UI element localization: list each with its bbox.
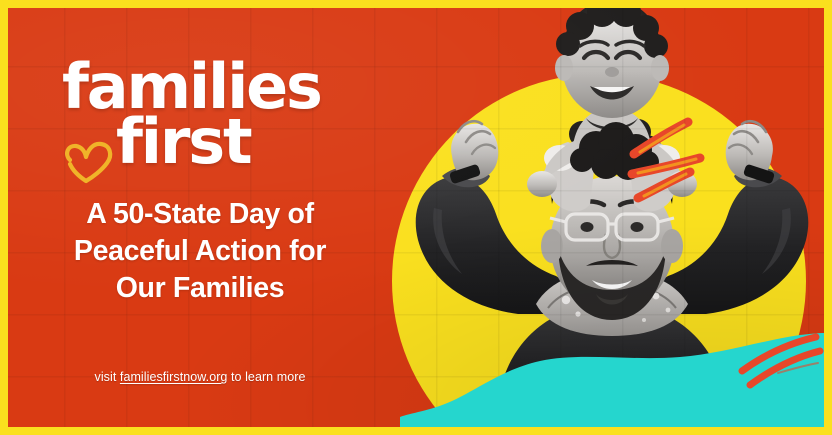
red-burst-lines-icon: [626, 112, 732, 208]
tagline-line-3: Our Families: [0, 270, 400, 307]
families-first-logo: families first: [62, 60, 392, 200]
content-column: families first A 50-State Day of Peacefu…: [0, 0, 400, 435]
footer-visit-line: visit familiesfirstnow.org to learn more: [0, 370, 400, 384]
hand-drawn-heart-icon: [60, 136, 116, 184]
tagline-line-2: Peaceful Action for: [0, 233, 400, 270]
website-url-link[interactable]: familiesfirstnow.org: [120, 370, 228, 384]
footer-suffix: to learn more: [231, 370, 305, 384]
teal-blob-shape: [400, 317, 824, 427]
footer-prefix: visit: [95, 370, 117, 384]
families-first-banner: families first A 50-State Day of Peacefu…: [0, 0, 832, 435]
tagline-line-1: A 50-State Day of: [0, 196, 400, 233]
tagline: A 50-State Day of Peaceful Action for Ou…: [0, 196, 400, 306]
